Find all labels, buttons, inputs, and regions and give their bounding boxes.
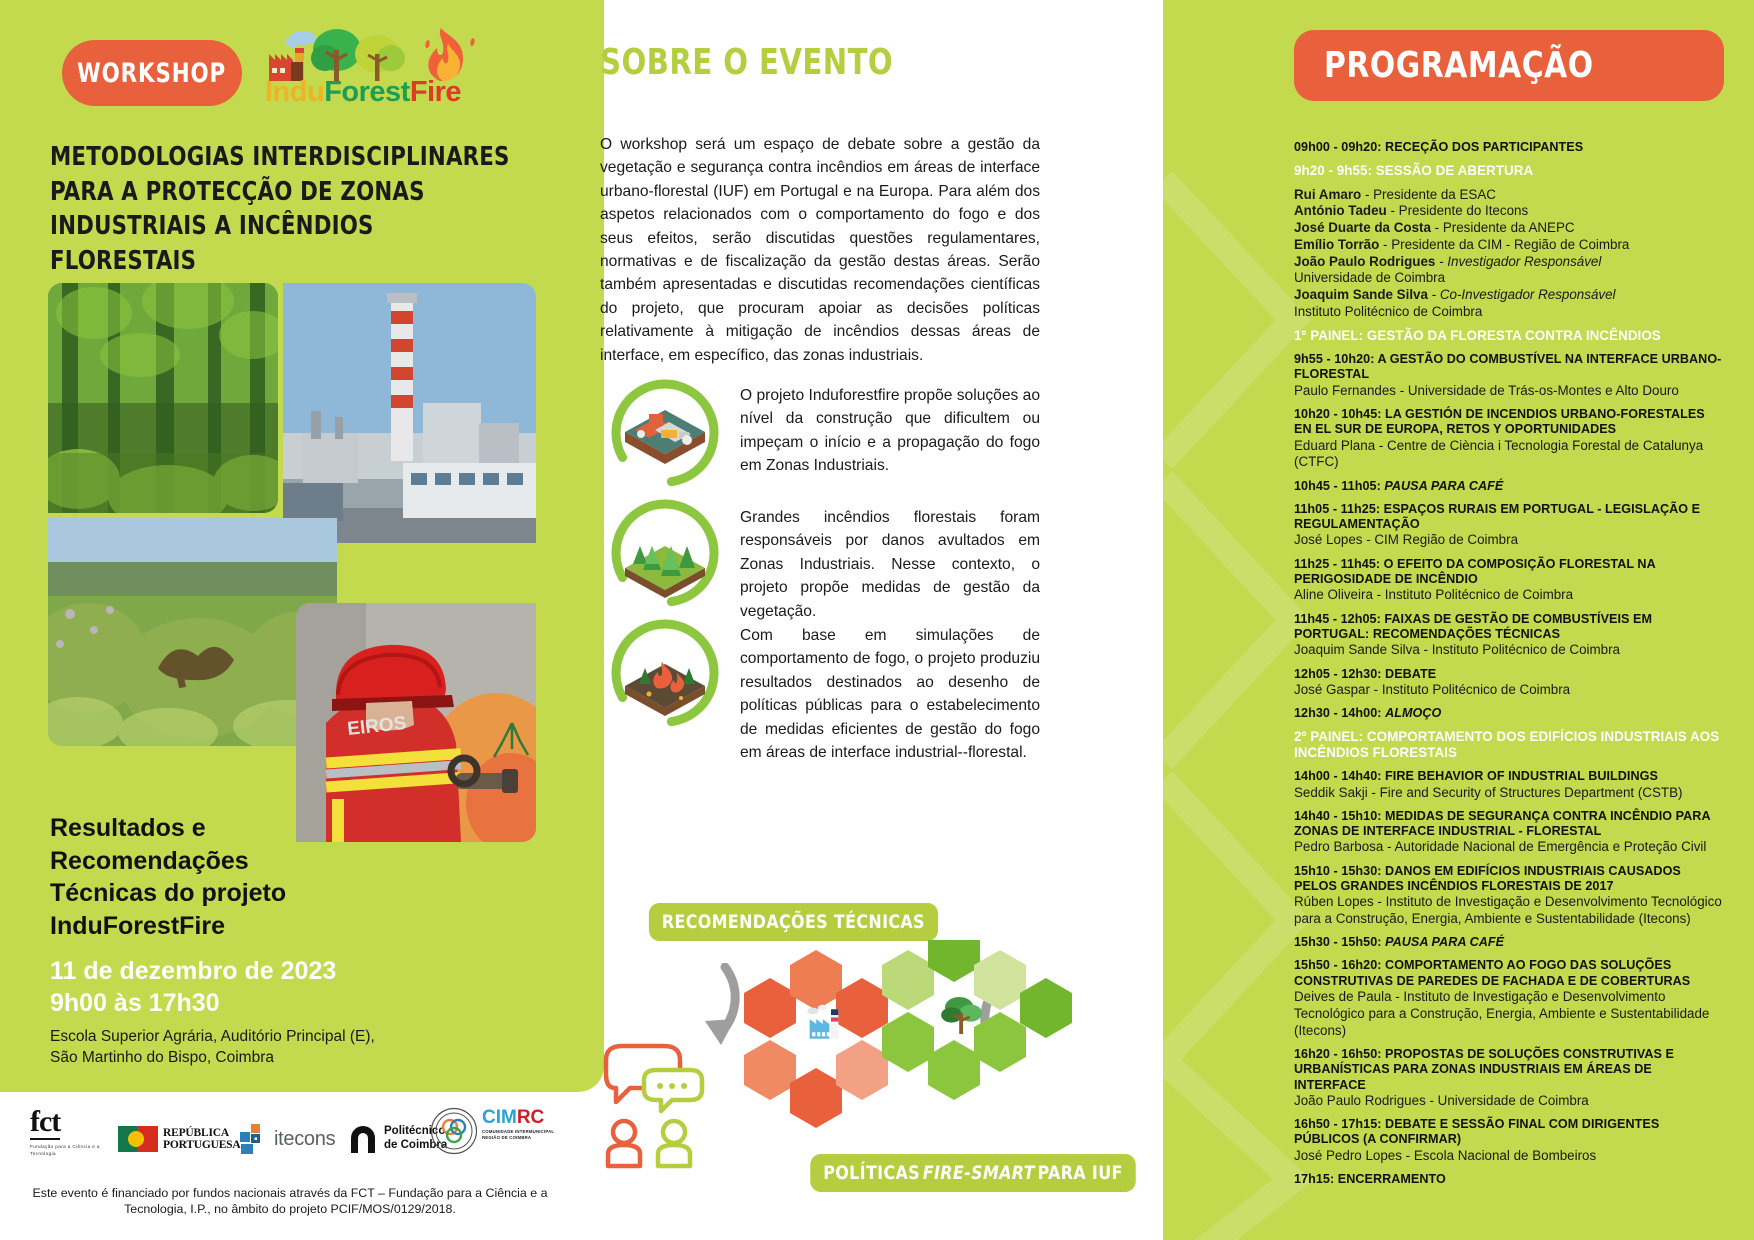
republica-line-1: REPÚBLICA bbox=[163, 1127, 240, 1139]
agenda-item: 12h05 - 12h30: DEBATEJosé Gaspar - Insti… bbox=[1294, 667, 1724, 699]
agenda-session-speaker: Deives de Paula - Instituto de Investiga… bbox=[1294, 989, 1724, 1039]
agenda-item: 15h50 - 16h20: COMPORTAMENTO AO FOGO DAS… bbox=[1294, 958, 1724, 1039]
industrial-zone-icon bbox=[610, 378, 720, 488]
agenda-list: 09h00 - 09h20: RECEÇÃO DOS PARTICIPANTES… bbox=[1294, 140, 1724, 1195]
logo-esac bbox=[430, 1107, 480, 1171]
poster: WORKSHOP bbox=[0, 0, 1754, 1240]
venue-line-2: São Martinho do Bispo, Coimbra bbox=[50, 1048, 480, 1069]
itecons-mark-icon bbox=[240, 1124, 268, 1154]
cim-wordmark: CIMRC bbox=[482, 1107, 572, 1129]
logo-itecons: itecons bbox=[240, 1107, 340, 1171]
agenda-speaker-line: Rui Amaro - Presidente da ESAC bbox=[1294, 187, 1724, 204]
agenda-session-speaker: Seddik Sakji - Fire and Security of Stru… bbox=[1294, 785, 1724, 802]
poster-title: METODOLOGIAS INTERDISCIPLINARES PARA A P… bbox=[50, 140, 515, 279]
agenda-speaker-line: João Paulo Rodrigues - Investigador Resp… bbox=[1294, 254, 1724, 271]
speaker-name: José Duarte da Costa bbox=[1294, 220, 1431, 235]
pill-politicas-prefix: POLÍTICAS bbox=[823, 1162, 920, 1184]
photo-forest bbox=[48, 283, 278, 513]
agenda-speaker-line: José Duarte da Costa - Presidente da ANE… bbox=[1294, 220, 1724, 237]
logo-wordmark: InduForestFire bbox=[265, 76, 495, 109]
fire-simulation-icon bbox=[610, 618, 720, 728]
agenda-item: 10h20 - 10h45: LA GESTIÓN DE INCENDIOS U… bbox=[1294, 407, 1724, 471]
forest-vegetation-icon bbox=[610, 498, 720, 608]
agenda-speaker-line: Instituto Politécnico de Coimbra bbox=[1294, 304, 1724, 321]
photo-firefighter: EIROS bbox=[296, 603, 536, 842]
agenda-item: 14h40 - 15h10: MEDIDAS DE SEGURANÇA CONT… bbox=[1294, 809, 1724, 856]
agenda-break-label: ALMOÇO bbox=[1385, 706, 1441, 720]
speaker-role: - Investigador Responsável bbox=[1435, 254, 1601, 269]
speaker-role: - Presidente do Itecons bbox=[1387, 203, 1528, 218]
agenda-item: 14h00 - 14h40: FIRE BEHAVIOR OF INDUSTRI… bbox=[1294, 769, 1724, 801]
agenda-session-speaker: Pedro Barbosa - Autoridade Nacional de E… bbox=[1294, 839, 1724, 856]
agenda-session-title: 15h50 - 16h20: COMPORTAMENTO AO FOGO DAS… bbox=[1294, 958, 1724, 989]
pill-politicas-fire-smart: POLÍTICAS FIRE-SMART PARA IUF bbox=[810, 1154, 1135, 1192]
programacao-badge-label: PROGRAMAÇÃO bbox=[1324, 45, 1594, 86]
agenda-item: 1º PAINEL: GESTÃO DA FLORESTA CONTRA INC… bbox=[1294, 328, 1724, 344]
agenda-session-speaker: José Pedro Lopes - Escola Nacional de Bo… bbox=[1294, 1148, 1724, 1165]
agenda-panel-title: 1º PAINEL: GESTÃO DA FLORESTA CONTRA INC… bbox=[1294, 328, 1724, 344]
agenda-time: 15h30 - 15h50: bbox=[1294, 935, 1385, 949]
agenda-item: 17h15: ENCERRAMENTO bbox=[1294, 1172, 1724, 1187]
agenda-session-title: 14h00 - 14h40: FIRE BEHAVIOR OF INDUSTRI… bbox=[1294, 769, 1724, 784]
agenda-session-title: 9h55 - 10h20: A GESTÃO DO COMBUSTÍVEL NA… bbox=[1294, 352, 1724, 383]
politecnico-mark-icon bbox=[348, 1124, 378, 1154]
agenda-session-title: 12h30 - 14h00: ALMOÇO bbox=[1294, 706, 1724, 721]
agenda-break-label: PAUSA PARA CAFÉ bbox=[1385, 935, 1504, 949]
induforestfire-logo: InduForestFire bbox=[265, 26, 495, 112]
fct-subtitle: Fundação para a Ciência e a Tecnologia bbox=[30, 1144, 102, 1158]
workshop-badge: WORKSHOP bbox=[62, 40, 242, 106]
agenda-item: 09h00 - 09h20: RECEÇÃO DOS PARTICIPANTES bbox=[1294, 140, 1724, 155]
logo-fct: fct Fundação para a Ciência e a Tecnolog… bbox=[30, 1107, 102, 1171]
logo-cim-rc: CIMRC COMUNIDADE INTERMUNICIPAL REGIÃO D… bbox=[482, 1107, 572, 1171]
about-paragraph-1: O projeto Induforestfire propõe soluções… bbox=[740, 384, 1040, 478]
esac-seal-icon bbox=[430, 1107, 478, 1155]
agenda-speaker-line: António Tadeu - Presidente do Itecons bbox=[1294, 203, 1724, 220]
event-time: 9h00 às 17h30 bbox=[50, 987, 470, 1019]
agenda-session-title: 09h00 - 09h20: RECEÇÃO DOS PARTICIPANTES bbox=[1294, 140, 1724, 155]
agenda-item: 11h05 - 11h25: ESPAÇOS RURAIS EM PORTUGA… bbox=[1294, 502, 1724, 549]
agenda-session-title: 14h40 - 15h10: MEDIDAS DE SEGURANÇA CONT… bbox=[1294, 809, 1724, 840]
left-subtitle: Resultados e Recomendações Técnicas do p… bbox=[50, 812, 300, 942]
agenda-session-speaker: José Lopes - CIM Região de Coimbra bbox=[1294, 532, 1724, 549]
pill-recomendacoes-tecnicas: RECOMENDAÇÕES TÉCNICAS bbox=[649, 903, 938, 941]
about-intro-text: O workshop será um espaço de debate sobr… bbox=[600, 133, 1040, 367]
speaker-name: João Paulo Rodrigues bbox=[1294, 254, 1435, 269]
agenda-speaker-line: Universidade de Coimbra bbox=[1294, 270, 1724, 287]
republica-text: REPÚBLICA PORTUGUESA bbox=[163, 1127, 240, 1152]
agenda-session-speaker: Eduard Plana - Centre de Ciència i Tecno… bbox=[1294, 438, 1724, 472]
cim-rc-text: RC bbox=[517, 1107, 544, 1128]
agenda-time: 12h30 - 14h00: bbox=[1294, 706, 1385, 720]
pill-politicas-emphasis: FIRE-SMART bbox=[920, 1162, 1038, 1184]
agenda-session-title: 15h10 - 15h30: DANOS EM EDIFÍCIOS INDUST… bbox=[1294, 864, 1724, 895]
factory-glyph-icon bbox=[807, 1005, 838, 1039]
agenda-item: 9h55 - 10h20: A GESTÃO DO COMBUSTÍVEL NA… bbox=[1294, 352, 1724, 399]
event-venue: Escola Superior Agrária, Auditório Princ… bbox=[50, 1027, 480, 1068]
workshop-badge-label: WORKSHOP bbox=[78, 58, 227, 89]
agenda-session-title: 15h30 - 15h50: PAUSA PARA CAFÉ bbox=[1294, 935, 1724, 950]
agenda-item: 15h10 - 15h30: DANOS EM EDIFÍCIOS INDUST… bbox=[1294, 864, 1724, 928]
speaker-role: - Presidente da CIM - Região de Coimbra bbox=[1379, 237, 1629, 252]
about-paragraph-2: Grandes incêndios florestais foram respo… bbox=[740, 506, 1040, 623]
agenda-item: 12h30 - 14h00: ALMOÇO bbox=[1294, 706, 1724, 721]
agenda-session-speaker: Joaquim Sande Silva - Instituto Politécn… bbox=[1294, 642, 1724, 659]
agenda-session-title: 11h25 - 11h45: O EFEITO DA COMPOSIÇÃO FL… bbox=[1294, 557, 1724, 588]
section-heading-about: SOBRE O EVENTO bbox=[600, 42, 1068, 83]
agenda-session-speaker: Aline Oliveira - Instituto Politécnico d… bbox=[1294, 587, 1724, 604]
funding-note: Este evento é financiado por fundos naci… bbox=[30, 1185, 550, 1218]
hexagon-infographic bbox=[730, 940, 1150, 1170]
speaker-name: Joaquim Sande Silva bbox=[1294, 287, 1428, 302]
agenda-item: 16h50 - 17h15: DEBATE E SESSÃO FINAL COM… bbox=[1294, 1117, 1724, 1164]
agenda-break-label: PAUSA PARA CAFÉ bbox=[1384, 479, 1503, 493]
agenda-time: 10h45 - 11h05: bbox=[1294, 479, 1384, 493]
agenda-session-title: 17h15: ENCERRAMENTO bbox=[1294, 1172, 1724, 1187]
stakeholder-dialogue-icon bbox=[600, 1040, 720, 1170]
agenda-item: Rui Amaro - Presidente da ESACAntónio Ta… bbox=[1294, 187, 1724, 321]
speaker-name: Rui Amaro bbox=[1294, 187, 1361, 202]
programacao-badge: PROGRAMAÇÃO bbox=[1294, 30, 1724, 101]
about-paragraph-3: Com base em simulações de comportamento … bbox=[740, 624, 1040, 764]
agenda-panel-title: 2º PAINEL: COMPORTAMENTO DOS EDIFÍCIOS I… bbox=[1294, 729, 1724, 762]
agenda-item: 11h25 - 11h45: O EFEITO DA COMPOSIÇÃO FL… bbox=[1294, 557, 1724, 604]
agenda-item: 11h45 - 12h05: FAIXAS DE GESTÃO DE COMBU… bbox=[1294, 612, 1724, 659]
agenda-session-speaker: João Paulo Rodrigues - Universidade de C… bbox=[1294, 1093, 1724, 1110]
itecons-wordmark: itecons bbox=[274, 1128, 335, 1151]
agenda-session-speaker: José Gaspar - Instituto Politécnico de C… bbox=[1294, 682, 1724, 699]
agenda-session-title: 16h50 - 17h15: DEBATE E SESSÃO FINAL COM… bbox=[1294, 1117, 1724, 1148]
sponsor-logos: fct Fundação para a Ciência e a Tecnolog… bbox=[30, 1107, 560, 1171]
event-date-time: 11 de dezembro de 2023 9h00 às 17h30 bbox=[50, 955, 470, 1019]
pill-politicas-suffix: PARA IUF bbox=[1038, 1162, 1123, 1184]
fct-wordmark: fct bbox=[30, 1107, 60, 1140]
cim-subtitle: COMUNIDADE INTERMUNICIPAL REGIÃO DE COIM… bbox=[482, 1129, 572, 1142]
agenda-session-title: 10h20 - 10h45: LA GESTIÓN DE INCENDIOS U… bbox=[1294, 407, 1724, 438]
logo-word-fire: Fire bbox=[410, 76, 461, 108]
agenda-speaker-list: Rui Amaro - Presidente da ESACAntónio Ta… bbox=[1294, 187, 1724, 321]
cim-text: CIM bbox=[482, 1107, 517, 1128]
agenda-speaker-line: Joaquim Sande Silva - Co-Investigador Re… bbox=[1294, 287, 1724, 304]
pill-recomendacoes-label: RECOMENDAÇÕES TÉCNICAS bbox=[662, 911, 925, 933]
agenda-item: 2º PAINEL: COMPORTAMENTO DOS EDIFÍCIOS I… bbox=[1294, 729, 1724, 762]
venue-line-1: Escola Superior Agrária, Auditório Princ… bbox=[50, 1027, 480, 1048]
logo-republica-portuguesa: REPÚBLICA PORTUGUESA bbox=[118, 1107, 226, 1171]
speaker-role: - Presidente da ESAC bbox=[1361, 187, 1496, 202]
republica-line-2: PORTUGUESA bbox=[163, 1139, 240, 1151]
agenda-item: 9h20 - 9h55: SESSÃO DE ABERTURA bbox=[1294, 163, 1724, 179]
agenda-session-title: 10h45 - 11h05: PAUSA PARA CAFÉ bbox=[1294, 479, 1724, 494]
agenda-panel-title: 9h20 - 9h55: SESSÃO DE ABERTURA bbox=[1294, 163, 1724, 179]
agenda-item: 15h30 - 15h50: PAUSA PARA CAFÉ bbox=[1294, 935, 1724, 950]
speaker-name: Emílio Torrão bbox=[1294, 237, 1379, 252]
photo-factory bbox=[283, 283, 536, 543]
photo-field bbox=[48, 518, 337, 746]
portugal-flag-icon bbox=[118, 1126, 158, 1152]
agenda-speaker-line: Emílio Torrão - Presidente da CIM - Regi… bbox=[1294, 237, 1724, 254]
agenda-session-title: 12h05 - 12h30: DEBATE bbox=[1294, 667, 1724, 682]
speaker-name: António Tadeu bbox=[1294, 203, 1387, 218]
agenda-session-title: 11h45 - 12h05: FAIXAS DE GESTÃO DE COMBU… bbox=[1294, 612, 1724, 643]
agenda-session-title: 16h20 - 16h50: PROPOSTAS DE SOLUÇÕES CON… bbox=[1294, 1047, 1724, 1093]
logo-word-indu: Indu bbox=[265, 76, 324, 108]
left-column: WORKSHOP bbox=[0, 0, 600, 1240]
event-date: 11 de dezembro de 2023 bbox=[50, 955, 470, 987]
agenda-item: 16h20 - 16h50: PROPOSTAS DE SOLUÇÕES CON… bbox=[1294, 1047, 1724, 1110]
agenda-session-speaker: Rúben Lopes - Instituto de Investigação … bbox=[1294, 894, 1724, 928]
agenda-session-title: 11h05 - 11h25: ESPAÇOS RURAIS EM PORTUGA… bbox=[1294, 502, 1724, 533]
speaker-role: - Presidente da ANEPC bbox=[1431, 220, 1575, 235]
agenda-session-speaker: Paulo Fernandes - Universidade de Trás-o… bbox=[1294, 383, 1724, 400]
right-column: PROGRAMAÇÃO 09h00 - 09h20: RECEÇÃO DOS P… bbox=[1163, 0, 1754, 1240]
logo-word-forest: Forest bbox=[324, 76, 410, 108]
agenda-item: 10h45 - 11h05: PAUSA PARA CAFÉ bbox=[1294, 479, 1724, 494]
speaker-role: - Co-Investigador Responsável bbox=[1428, 287, 1616, 302]
middle-column: SOBRE O EVENTO O workshop será um espaço… bbox=[600, 0, 1160, 1240]
